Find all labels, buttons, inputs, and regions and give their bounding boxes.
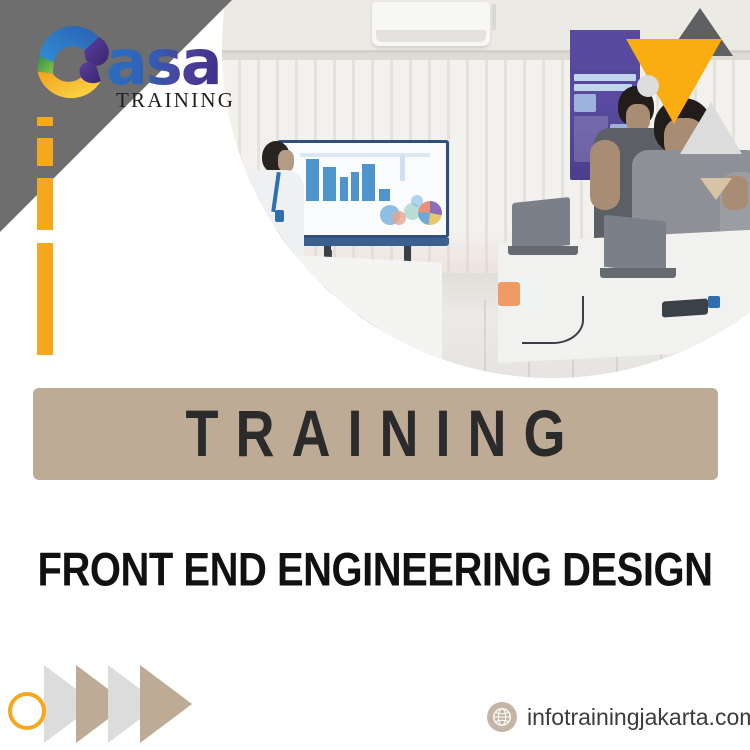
training-band: TRAINING [33, 388, 718, 480]
laptop-two-base [600, 268, 676, 278]
roll-up-banner-header [570, 30, 640, 70]
logo-subtitle: TRAINING [116, 88, 235, 113]
globe-icon [487, 702, 517, 732]
accent-dash-2 [37, 138, 53, 166]
screen-label [400, 155, 405, 181]
poster-canvas: asa TRAINING TRAINING FRONT END ENGINEER… [0, 0, 750, 750]
screen-pie-chart [418, 201, 442, 225]
ring-accent-icon [8, 692, 46, 730]
page-title: FRONT END ENGINEERING DESIGN [0, 544, 750, 597]
laptop-two-lid [604, 215, 666, 274]
screen-bar [323, 167, 336, 201]
table-cable [522, 296, 584, 344]
training-label: TRAINING [169, 396, 583, 472]
tissue-box-accent [498, 282, 520, 306]
footer: infotrainingjakarta.com [487, 702, 750, 732]
laptop-one-base [508, 246, 578, 255]
screen-bar [379, 189, 390, 201]
usb-device [708, 296, 720, 308]
screen-bar [351, 172, 359, 201]
bag-on-table [252, 246, 272, 262]
accent-dash-3 [37, 178, 53, 230]
presenter-badge [275, 210, 284, 222]
roll-up-banner-line1 [574, 74, 636, 81]
phone-on-table [662, 298, 708, 317]
screen-label [300, 153, 430, 157]
screen-content [280, 143, 446, 235]
table-left [262, 253, 442, 362]
ac-pipe [492, 4, 496, 30]
presenter-face [278, 150, 294, 172]
screen-bar [340, 177, 348, 201]
website-url[interactable]: infotrainingjakarta.com [527, 704, 750, 731]
chevron-4-icon [140, 665, 192, 743]
screen-bar [362, 164, 375, 201]
logo-wordmark: asa [106, 32, 221, 94]
accent-dash-4 [37, 243, 53, 355]
circle-gray [637, 75, 659, 97]
screen-bar [306, 159, 319, 201]
tissue-box-left [276, 278, 310, 306]
ac-vent [376, 30, 486, 42]
participant-arm-back [590, 140, 620, 210]
brand-logo: asa TRAINING [24, 14, 244, 114]
laptop-one-lid [512, 197, 570, 251]
accent-dash-1 [37, 117, 53, 126]
roll-up-banner-number-1 [574, 94, 596, 112]
